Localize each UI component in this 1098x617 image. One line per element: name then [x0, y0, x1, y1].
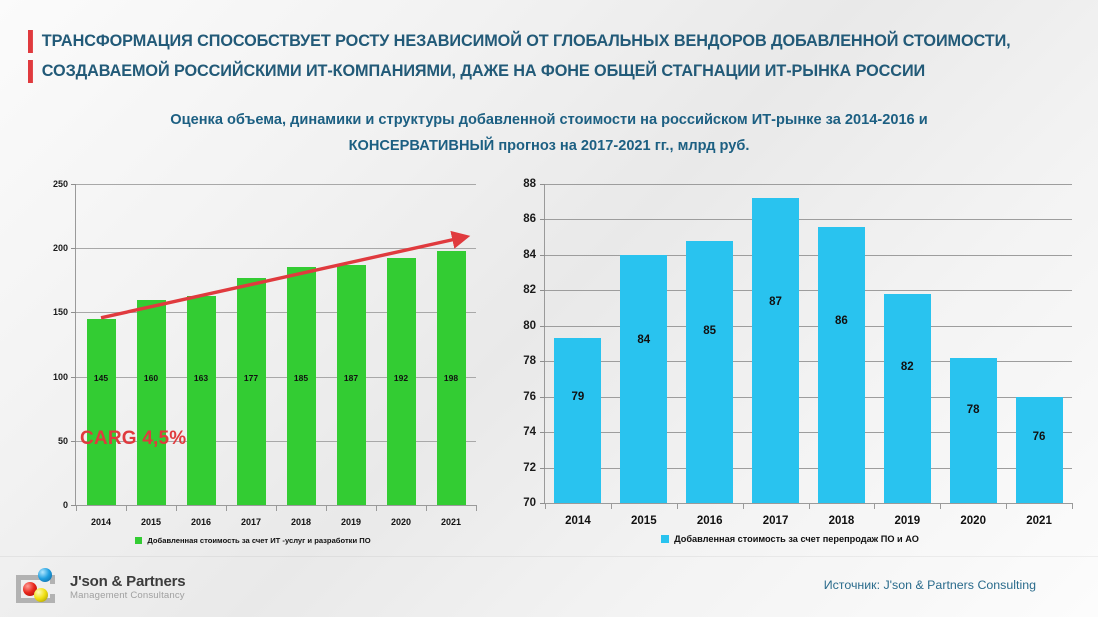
bar[interactable]: 185	[287, 267, 316, 505]
x-axis-tick-mark	[743, 503, 744, 509]
legend-label-left: Добавленная стоимость за счет ИТ -услуг …	[147, 536, 370, 545]
y-axis-tick-label: 50	[58, 436, 76, 446]
x-axis-tick-mark	[809, 503, 810, 509]
carg-annotation-label: CARG 4,5%	[80, 428, 186, 450]
y-axis-tick-label: 86	[523, 213, 545, 225]
x-axis-tick-mark	[326, 505, 327, 511]
x-axis-tick-label: 2016	[176, 517, 226, 527]
bar-slot: 76	[1006, 184, 1072, 503]
bar-value-label: 163	[194, 373, 208, 383]
chart-it-services-value-added: 050100150200250 145160163177185187192198…	[18, 176, 488, 546]
x-axis-tick-label: 2017	[226, 517, 276, 527]
bar-slot: 85	[677, 184, 743, 503]
x-axis-tick-label: 2014	[76, 517, 126, 527]
bar[interactable]: 85	[686, 241, 733, 503]
x-axis-tick-mark	[426, 505, 427, 511]
page-title-line-2: СОЗДАВАЕМОЙ РОССИЙСКИМИ ИТ-КОМПАНИЯМИ, Д…	[28, 56, 1062, 86]
legend-swatch-green	[135, 537, 142, 544]
x-axis-tick-label: 2016	[677, 515, 743, 527]
bar-slot: 160	[126, 184, 176, 505]
logo-company-name: J'son & Partners	[70, 573, 185, 590]
company-logo: J'son & Partners Management Consultancy	[14, 566, 185, 608]
y-axis-tick-label: 100	[53, 372, 76, 382]
x-axis-tick-mark	[476, 505, 477, 511]
x-axis-tick-label: 2017	[743, 515, 809, 527]
x-axis-tick-label: 2019	[874, 515, 940, 527]
legend-label-right: Добавленная стоимость за счет перепродаж…	[674, 534, 919, 544]
logo-tagline: Management Consultancy	[70, 590, 185, 601]
bar-slot: 87	[743, 184, 809, 503]
bar[interactable]: 198	[437, 251, 466, 505]
bar-series-left: 145160163177185187192198	[76, 184, 476, 505]
bar[interactable]: 177	[237, 278, 266, 505]
bar[interactable]: 84	[620, 255, 667, 503]
bar[interactable]: 187	[337, 265, 366, 505]
x-axis-tick-label: 2018	[809, 515, 875, 527]
bar-value-label: 192	[394, 373, 408, 383]
x-axis-tick-mark	[276, 505, 277, 511]
bar-value-label: 84	[637, 334, 650, 346]
bar[interactable]: 160	[137, 300, 166, 505]
bar[interactable]: 87	[752, 198, 799, 503]
bar-series-right: 7984858786827876	[545, 184, 1072, 503]
x-axis-tick-mark	[376, 505, 377, 511]
bar-slot: 82	[874, 184, 940, 503]
bar-value-label: 79	[572, 391, 585, 403]
x-axis-tick-mark	[226, 505, 227, 511]
bar-value-label: 78	[967, 404, 980, 416]
x-axis-tick-label: 2020	[376, 517, 426, 527]
logo-mark-icon	[14, 566, 60, 608]
bar-value-label: 85	[703, 325, 716, 337]
page-subtitle-line-2: КОНСЕРВАТИВНЫЙ прогноз на 2017-2021 гг.,…	[49, 133, 1049, 159]
chart-resale-value-added: 70727476788082848688 7984858786827876 20…	[492, 176, 1088, 546]
page-title-line-1: ТРАНСФОРМАЦИЯ СПОСОБСТВУЕТ РОСТУ НЕЗАВИС…	[28, 26, 1062, 56]
bar-slot: 78	[940, 184, 1006, 503]
x-axis-tick-label: 2015	[611, 515, 677, 527]
y-axis-tick-label: 150	[53, 307, 76, 317]
plot-area-right: 70727476788082848688 7984858786827876 20…	[544, 184, 1072, 504]
x-axis-tick-mark	[176, 505, 177, 511]
bar-slot: 84	[611, 184, 677, 503]
bar-value-label: 177	[244, 373, 258, 383]
x-axis-tick-mark	[126, 505, 127, 511]
bar-value-label: 198	[444, 373, 458, 383]
y-axis-tick-label: 84	[523, 249, 545, 261]
legend-left: Добавленная стоимость за счет ИТ -услуг …	[18, 536, 488, 545]
y-axis-tick-label: 88	[523, 178, 545, 190]
y-axis-tick-label: 74	[523, 426, 545, 438]
page-subtitle-line-1: Оценка объема, динамики и структуры доба…	[49, 107, 1049, 133]
x-axis-tick-label: 2015	[126, 517, 176, 527]
bar-slot: 187	[326, 184, 376, 505]
x-axis-tick-label: 2014	[545, 515, 611, 527]
y-axis-tick-label: 0	[63, 500, 76, 510]
x-axis-tick-mark	[940, 503, 941, 509]
x-axis-tick-mark	[1006, 503, 1007, 509]
x-axis-tick-mark	[677, 503, 678, 509]
bar[interactable]: 86	[818, 227, 865, 503]
legend-swatch-blue	[661, 535, 669, 543]
bar-value-label: 187	[344, 373, 358, 383]
x-axis-tick-label: 2021	[1006, 515, 1072, 527]
x-axis-tick-label: 2020	[940, 515, 1006, 527]
bar-slot: 86	[809, 184, 875, 503]
bar[interactable]: 79	[554, 338, 601, 503]
y-axis-tick-label: 82	[523, 284, 545, 296]
y-axis-tick-label: 200	[53, 243, 76, 253]
bar-value-label: 87	[769, 296, 782, 308]
bar[interactable]: 82	[884, 294, 931, 503]
bar-value-label: 160	[144, 373, 158, 383]
y-axis-tick-label: 250	[53, 179, 76, 189]
bar-value-label: 86	[835, 315, 848, 327]
x-axis-tick-mark	[1072, 503, 1073, 509]
bar-slot: 145	[76, 184, 126, 505]
bar-value-label: 76	[1033, 431, 1046, 443]
x-axis-tick-mark	[611, 503, 612, 509]
blue-sphere-icon	[38, 568, 52, 582]
x-axis-tick-mark	[874, 503, 875, 509]
bar[interactable]: 76	[1016, 397, 1063, 503]
bar[interactable]: 163	[187, 296, 216, 505]
bar-slot: 198	[426, 184, 476, 505]
y-axis-tick-label: 78	[523, 355, 545, 367]
bar-value-label: 145	[94, 373, 108, 383]
y-axis-tick-label: 80	[523, 320, 545, 332]
logo-text: J'son & Partners Management Consultancy	[70, 573, 185, 601]
x-axis-tick-label: 2021	[426, 517, 476, 527]
bar[interactable]: 192	[387, 258, 416, 505]
bar-slot: 79	[545, 184, 611, 503]
page-subtitle: Оценка объема, динамики и структуры доба…	[49, 107, 1049, 159]
bar-slot: 192	[376, 184, 426, 505]
y-axis-tick-label: 76	[523, 391, 545, 403]
x-axis-tick-label: 2019	[326, 517, 376, 527]
y-axis-tick-label: 72	[523, 462, 545, 474]
bar[interactable]: 78	[950, 358, 997, 503]
source-note: Источник: J'son & Partners Consulting	[824, 578, 1036, 592]
x-axis-left: 20142015201620172018201920202021	[76, 505, 476, 527]
plot-area-left: 050100150200250 145160163177185187192198…	[75, 184, 476, 506]
page-title: ТРАНСФОРМАЦИЯ СПОСОБСТВУЕТ РОСТУ НЕЗАВИС…	[28, 26, 1078, 86]
y-axis-tick-label: 70	[523, 497, 545, 509]
bar-slot: 163	[176, 184, 226, 505]
bar-slot: 177	[226, 184, 276, 505]
footer-divider	[0, 556, 1098, 557]
x-axis-tick-mark	[76, 505, 77, 511]
x-axis-tick-mark	[545, 503, 546, 509]
legend-right: Добавленная стоимость за счет перепродаж…	[492, 534, 1088, 544]
x-axis-right: 20142015201620172018201920202021	[545, 503, 1072, 527]
bar[interactable]: 145	[87, 319, 116, 505]
x-axis-tick-label: 2018	[276, 517, 326, 527]
bar-value-label: 82	[901, 361, 914, 373]
yellow-sphere-icon	[34, 588, 48, 602]
bar-value-label: 185	[294, 373, 308, 383]
bar-slot: 185	[276, 184, 326, 505]
